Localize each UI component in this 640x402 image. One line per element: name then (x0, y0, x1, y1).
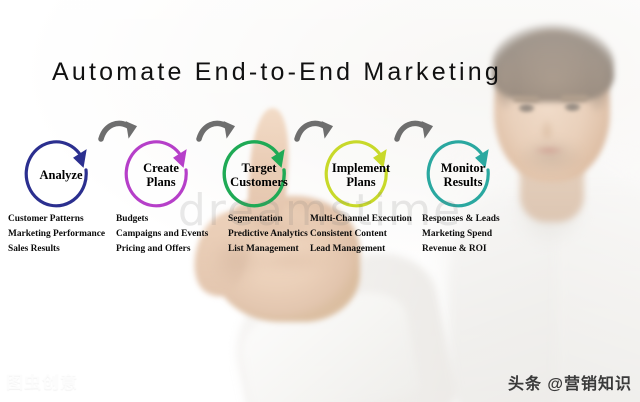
stage-label-target-customers: Target Customers (222, 140, 296, 210)
stage-label-monitor-results: Monitor Results (426, 140, 500, 210)
bullet-item: Budgets (116, 212, 208, 227)
bullet-item: Segmentation (228, 212, 308, 227)
stage-label-line: Results (444, 175, 483, 189)
bullet-item: Sales Results (8, 242, 105, 257)
stage-label-line: Plans (146, 175, 175, 189)
stage-bullets-monitor-results: Responses & Leads Marketing Spend Revenu… (422, 212, 500, 258)
stage-label-line: Analyze (39, 168, 82, 182)
stage-node-analyze[interactable]: Analyze (24, 140, 98, 210)
bullet-item: Predictive Analytics (228, 227, 308, 242)
bullet-item: Marketing Spend (422, 227, 500, 242)
stage-label-line: Create (143, 161, 179, 175)
stage-node-implement-plans[interactable]: Implement Plans (324, 140, 398, 210)
stage-bullets-create-plans: Budgets Campaigns and Events Pricing and… (116, 212, 208, 258)
bullet-item: Consistent Content (310, 227, 412, 242)
page-title: Automate End-to-End Marketing (52, 58, 502, 87)
bullet-item: Customer Patterns (8, 212, 105, 227)
stage-node-monitor-results[interactable]: Monitor Results (426, 140, 500, 210)
bullet-item: Pricing and Offers (116, 242, 208, 257)
bullet-item: Multi-Channel Execution (310, 212, 412, 227)
stage-node-target-customers[interactable]: Target Customers (222, 140, 296, 210)
stage-label-create-plans: Create Plans (124, 140, 198, 210)
bullet-item: Marketing Performance (8, 227, 105, 242)
bullet-item: Lead Management (310, 242, 412, 257)
stage-label-implement-plans: Implement Plans (324, 140, 398, 210)
bullet-item: List Management (228, 242, 308, 257)
stage-bullets-implement-plans: Multi-Channel Execution Consistent Conte… (310, 212, 412, 258)
stage-label-analyze: Analyze (24, 140, 98, 210)
bullet-item: Responses & Leads (422, 212, 500, 227)
bullet-item: Revenue & ROI (422, 242, 500, 257)
stage-label-line: Target (242, 161, 277, 175)
stage-label-line: Plans (346, 175, 375, 189)
bullet-item: Campaigns and Events (116, 227, 208, 242)
stage-bullets-analyze: Customer Patterns Marketing Performance … (8, 212, 105, 258)
stage-node-create-plans[interactable]: Create Plans (124, 140, 198, 210)
stage-label-line: Customers (230, 175, 288, 189)
stage-bullets-target-customers: Segmentation Predictive Analytics List M… (228, 212, 308, 258)
stage-label-line: Monitor (441, 161, 485, 175)
stage-label-line: Implement (332, 161, 390, 175)
diagram-canvas: Automate End-to-End Marketing Analyze Cu… (0, 0, 640, 402)
